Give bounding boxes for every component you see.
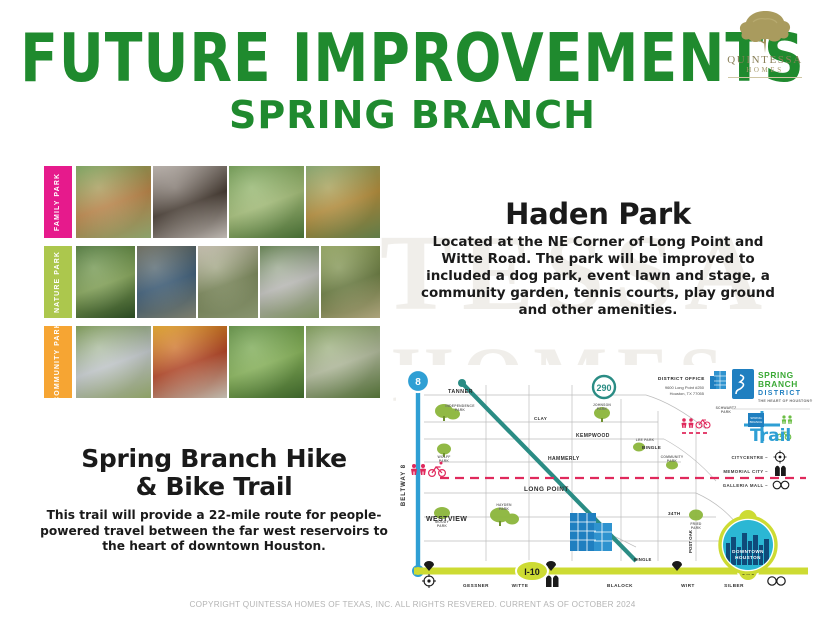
brand-logo: QUINTESSA HOMES [719, 8, 811, 86]
forest-boardwalk-trail [76, 246, 135, 318]
svg-text:LONG POINT: LONG POINT [524, 486, 569, 493]
svg-text:SILBER: SILBER [724, 583, 744, 588]
park-row-nature-park: NATURE PARK [44, 246, 380, 318]
park-label: PARK [455, 408, 466, 412]
photo-overlay [306, 166, 381, 238]
legend-label-memorial-city: MEMORIAL CITY – [723, 469, 768, 474]
beltway-8-label: BELTWAY 8 [401, 464, 407, 506]
copyright-footer: COPYRIGHT QUINTESSA HOMES OF TEXAS, INC.… [0, 600, 825, 609]
trail-title: Spring Branch Hike & Bike Trail [34, 445, 394, 501]
svg-text:BRANCH: BRANCH [750, 420, 763, 424]
downtown-label-2: HOUSTON [735, 555, 761, 560]
street-label-post-oak: POST OAK [688, 529, 693, 553]
downtown-houston-badge: DOWNTOWN HOUSTON [720, 517, 776, 573]
page-header: FUTURE IMPROVEMENTS SPRING BRANCH QUINTE… [0, 0, 825, 150]
trail-title-line-2: & Bike Trail [136, 472, 293, 501]
svg-text:BINGLE: BINGLE [642, 445, 661, 450]
photo-overlay [153, 326, 228, 398]
park-row-family-park: FAMILY PARK [44, 166, 380, 238]
photo-overlay [137, 246, 196, 318]
park-label: PARK [597, 407, 608, 411]
district-office-address-1: 9600 Long Point #250 [665, 385, 705, 390]
turtles-and-heron-pond [137, 246, 196, 318]
svg-text:CLAY: CLAY [534, 416, 547, 421]
tree-icon [735, 8, 795, 56]
trail-logo-text: Trail [750, 426, 791, 446]
haden-park-description: Located at the NE Corner of Long Point a… [398, 234, 798, 319]
brand-subname: HOMES [719, 66, 811, 74]
haden-park-section: Haden Park Located at the NE Corner of L… [398, 198, 798, 319]
photo-overlay [306, 326, 381, 398]
svg-text:I-10: I-10 [524, 567, 540, 577]
kids-creek-exploration [260, 246, 319, 318]
svg-text:TANNER: TANNER [448, 389, 473, 395]
park-row-label-1: NATURE PARK [44, 246, 72, 318]
district-logo-line-3: DISTRICT [758, 390, 801, 397]
downtown-label-1: DOWNTOWN [732, 549, 764, 554]
district-logo-line-2: BRANCH [758, 379, 798, 389]
highway-shield-290: 290 [593, 376, 615, 398]
page-subtitle: SPRING BRANCH [0, 95, 825, 135]
photo-overlay [321, 246, 380, 318]
legend-label-citycentre: CITYCENTRE – [731, 455, 768, 460]
park-row-label-text: FAMILY PARK [54, 173, 62, 231]
svg-text:WIRT: WIRT [681, 583, 695, 588]
district-logo-tagline: THE HEART OF HOUSTON® [758, 399, 812, 403]
svg-text:HAMMERLY: HAMMERLY [548, 456, 580, 462]
park-label: PARK [437, 524, 448, 528]
playground-climbing-structure [76, 166, 151, 238]
food-truck-vendors [153, 326, 228, 398]
highway-shield-i-10: I-10 [516, 561, 548, 581]
svg-text:WITTE: WITTE [512, 583, 529, 588]
brand-name: QUINTESSA [719, 54, 811, 66]
park-lawn-gathering [229, 166, 304, 238]
nature-education-frog [198, 246, 257, 318]
district-office-address-2: Houston, TX 77055 [670, 391, 705, 396]
highway-shield-beltway-8: 8 [407, 370, 429, 392]
photo-overlay [76, 246, 135, 318]
svg-text:8: 8 [415, 377, 421, 388]
svg-text:BLALOCK: BLALOCK [607, 583, 633, 588]
legend-label-galleria-mall: GALLERIA MALL – [723, 483, 768, 488]
trail-title-line-1: Spring Branch Hike [81, 444, 347, 473]
brand-divider [728, 77, 802, 78]
public-art-sculpture-figures [153, 166, 228, 238]
trail-description: This trail will provide a 22-mile route … [34, 508, 394, 555]
haden-park-title: Haden Park [398, 198, 798, 230]
photo-overlay [76, 166, 151, 238]
park-row-community-park: COMMUNITY PARK [44, 326, 380, 398]
park-label: PARK [499, 507, 510, 511]
map-graphic: INDEPENDENCEPARK WOLFFPARK JOHNSONPARK L… [396, 365, 816, 597]
photo-overlay [198, 246, 257, 318]
park-label: LEE PARK [636, 438, 655, 442]
svg-text:WESTVIEW: WESTVIEW [426, 516, 467, 523]
farmers-market-tents [76, 326, 151, 398]
park-label: PARK [721, 410, 732, 414]
svg-text:34TH: 34TH [668, 511, 681, 516]
svg-text:BINGLE: BINGLE [634, 557, 652, 562]
park-label: PARK [667, 459, 678, 463]
park-row-photos [72, 326, 380, 398]
park-photo-grid: FAMILY PARKNATURE PARKCOMMUNITY PARK [44, 166, 380, 398]
park-row-label-2: COMMUNITY PARK [44, 326, 72, 398]
wooded-dirt-path [321, 246, 380, 318]
page-title: FUTURE IMPROVEMENTS [12, 22, 812, 95]
svg-text:KEMPWOOD: KEMPWOOD [576, 433, 610, 439]
dog-park-off-leash [229, 326, 304, 398]
park-row-label-0: FAMILY PARK [44, 166, 72, 238]
trail-section: Spring Branch Hike & Bike Trail This tra… [34, 445, 394, 555]
park-row-label-text: NATURE PARK [54, 251, 62, 313]
photo-overlay [229, 326, 304, 398]
photo-overlay [229, 166, 304, 238]
spring-branch-trail-map: INDEPENDENCEPARK WOLFFPARK JOHNSONPARK L… [396, 365, 816, 597]
park-row-photos [72, 166, 380, 238]
svg-text:GESSNER: GESSNER [463, 583, 489, 588]
park-row-label-text: COMMUNITY PARK [54, 326, 62, 398]
park-row-photos [72, 246, 380, 318]
park-label: PARK [691, 526, 702, 530]
photo-overlay [260, 246, 319, 318]
photo-overlay [153, 166, 228, 238]
child-on-playground-swing [306, 166, 381, 238]
district-office-label: DISTRICT OFFICE [658, 376, 705, 381]
picnic-under-trees [306, 326, 381, 398]
photo-overlay [76, 326, 151, 398]
svg-text:290: 290 [596, 383, 611, 393]
